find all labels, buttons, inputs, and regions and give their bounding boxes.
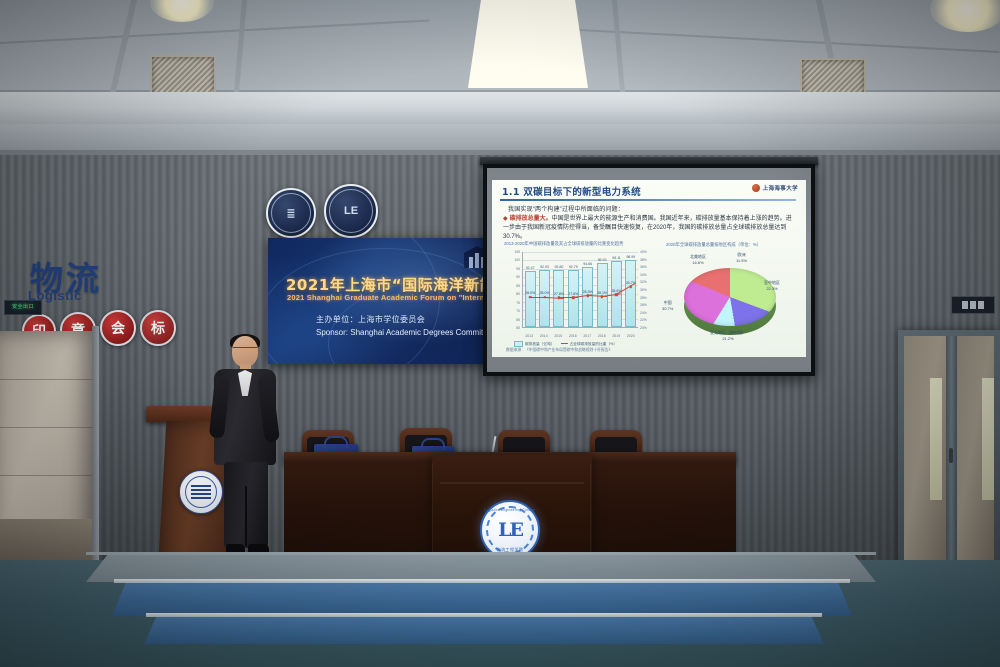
y-tick-label: 90 [504, 275, 520, 279]
pie-slice-label: 中国30.7% [662, 300, 673, 311]
y2-tick-label: 30% [640, 288, 654, 292]
y2-tick-label: 22% [640, 318, 654, 322]
stage-deck [86, 552, 876, 582]
alcove-seam [0, 475, 96, 476]
podium-seal-wave-icon [191, 485, 211, 499]
pie-label-name: 亚太地区（除中国） [710, 330, 746, 336]
y-tick-label: 60 [504, 326, 520, 330]
y2-tick-label: 24% [640, 311, 654, 315]
pie-chart-graphic [684, 268, 776, 330]
exit-sign-label: 安全出口 [12, 305, 34, 310]
y-tick-label: 105 [504, 250, 520, 254]
bag-handle [421, 438, 445, 450]
slide-university-logo: 上海海事大学 [752, 184, 798, 192]
banner-title-chinese: 2021年上海市“国际海洋新能 [286, 274, 500, 295]
x-tick-label: 2015 [554, 334, 562, 338]
y-tick-label: 85 [504, 284, 520, 288]
legend-swatch-bar-icon [514, 341, 523, 347]
wall-seal-icon: 标 [140, 310, 176, 346]
banner-emblem-bar [469, 257, 473, 268]
wall-top-trim [0, 150, 1000, 155]
y2-tick-label: 36% [640, 265, 654, 269]
ceiling [0, 0, 1000, 152]
stage-platform [86, 552, 876, 646]
plaque-glyph [970, 301, 976, 309]
x-tick-label: 2017 [583, 334, 591, 338]
y2-tick-label: 38% [640, 258, 654, 262]
banner-organizer-english: Sponsor: Shanghai Academic Degrees Commi… [316, 328, 500, 337]
pie-slice-label: 亚太地区（除中国）21.2% [710, 330, 746, 341]
table-groove [440, 482, 584, 484]
pie-label-value: 11.5% [736, 258, 747, 264]
y2-tick-label: 20% [640, 326, 654, 330]
pie-label-name: 北美地区 [690, 254, 706, 260]
pie-label-value: 30.7% [662, 306, 673, 312]
y2-tick-label: 32% [640, 280, 654, 284]
x-tick-label: 2020 [627, 334, 635, 338]
y-tick-label: 95 [504, 267, 520, 271]
alcove-seam [0, 427, 96, 428]
line-value-label: 28.0% [540, 291, 550, 295]
stage-step-nosing [114, 579, 850, 583]
plaque-glyph [978, 301, 984, 309]
door-glass-panel [982, 378, 994, 500]
stage-step-nosing [146, 613, 822, 617]
ceiling-beam-lower [0, 124, 1000, 152]
stage-front-edge [86, 552, 876, 555]
slide-source-note: 数据来源：《中国碳中和产业布局暨碳中和战略规划十杆报告》 [506, 348, 612, 353]
presenter-leg-split [245, 486, 247, 546]
legend-label: 碳排放量（亿吨） [525, 342, 555, 346]
presenter-person [212, 336, 280, 561]
alcove-seam [0, 379, 96, 380]
pie-label-name: 亚中地区 [764, 280, 780, 286]
y-tick-label: 75 [504, 301, 520, 305]
banner-title-english: 2021 Shanghai Graduate Academic Forum on… [287, 293, 500, 302]
y2-tick-label: 26% [640, 303, 654, 307]
alcove-floor [0, 519, 96, 563]
x-tick-label: 2018 [598, 334, 606, 338]
bag-handle [324, 436, 348, 448]
ceiling-panel-seam [560, 28, 999, 53]
x-tick-label: 2019 [612, 334, 620, 338]
emblem-maritime-university: ≣ [266, 188, 316, 238]
legend-entry-line: 占全球碳排放量的比重（%） [561, 342, 618, 347]
ceiling-beam [0, 92, 1000, 126]
slide-title-rule [500, 199, 796, 201]
x-tick-label: 2016 [569, 334, 577, 338]
door-handle[interactable] [949, 448, 953, 463]
logo-mark-icon [752, 184, 760, 192]
y2-tick-label: 40% [640, 250, 654, 254]
ceiling-rib [109, 0, 137, 96]
downlight-icon [930, 0, 1000, 32]
table-college-seal: Logistics Engineering College LE 物流工程学院 [480, 500, 540, 560]
slide-logo-text: 上海海事大学 [763, 184, 798, 192]
slide-lead-text: 我国实现“两个构建”过程中所面临的问题： [508, 204, 624, 213]
ceiling-rib [612, 0, 625, 92]
seal-english-text: Logistics Engineering College [485, 508, 536, 512]
slide-title: 1.1 双碳目标下的新型电力系统 [502, 184, 641, 198]
pie-label-name: 欧洲 [736, 252, 747, 258]
legend-entry-bars: 碳排放量（亿吨） [514, 341, 555, 347]
y2-tick-label: 34% [640, 273, 654, 277]
event-banner: 2021年上海市“国际海洋新能 2021 Shanghai Graduate A… [268, 238, 500, 364]
line-value-label: 28.0% [525, 291, 535, 295]
banner-organizer-chinese: 主办单位：上海市学位委员会 [316, 314, 500, 325]
pie-chart-title: 2020年全球碳排放量总量按地区构成（单位：%） [666, 242, 761, 248]
emblem-ring [329, 189, 373, 233]
ceiling-panel-seam [0, 19, 429, 43]
plaque-glyph [962, 301, 968, 309]
emblem-ring [271, 193, 311, 233]
stage-riser-lower [144, 614, 824, 644]
door-glass-panel [930, 378, 942, 500]
presentation-slide: 1.1 双碳目标下的新型电力系统 上海海事大学 我国实现“两个构建”过程中所面临… [492, 180, 806, 357]
pie-chart: 2020年全球碳排放量总量按地区构成（单位：%） 中国30.7%北美地区16.6… [660, 242, 800, 348]
pie-slice-label: 欧洲11.5% [736, 252, 747, 263]
y-tick-label: 100 [504, 258, 520, 262]
bar-chart-plot-area: 92.4792.9392.8092.7994.6696.9398.1198.99… [522, 252, 638, 328]
x-tick-label: 2013 [525, 334, 533, 338]
pie-slice-label: 亚中地区22.3% [764, 280, 780, 291]
legend-swatch-line-icon [561, 343, 568, 344]
exit-sign-left: 安全出口 [4, 300, 42, 315]
pie-label-name: 中国 [662, 300, 673, 306]
ceiling-rib [234, 0, 247, 92]
line-value-label: 28.1% [597, 291, 607, 295]
line-segment [559, 297, 578, 298]
bullet-marker-icon: ◆ [503, 216, 508, 222]
pie-slice-label: 北美地区16.6% [690, 254, 706, 265]
bar-chart-legend: 碳排放量（亿吨） 占全球碳排放量的比重（%） [514, 341, 617, 347]
grid-line [523, 327, 638, 328]
exit-sign-right [951, 296, 995, 314]
pie-label-value: 22.3% [764, 286, 780, 292]
bar-chart: 2013-2020年中国碳排放量及其占全球碳排放量的比重变化趋势 92.4792… [504, 248, 654, 344]
y-tick-label: 80 [504, 292, 520, 296]
line-value-label: 27.8% [554, 292, 564, 296]
bar-chart-line-series: 28.0%28.0%27.8%27.8%28.3%28.1%28.6%30.7% [523, 252, 638, 327]
bar-chart-title: 2013-2020年中国碳排放量及其占全球碳排放量的比重变化趋势 [504, 241, 623, 247]
pie-label-value: 16.6% [690, 260, 706, 266]
ceiling-light-panel [468, 0, 588, 88]
stage-riser-upper [112, 580, 852, 616]
banner-emblem-bar [475, 253, 479, 268]
left-doorway-alcove [0, 331, 96, 563]
scene-root: 物流 Logistic 印 章 会 标 安全出口 ≣ LE [0, 0, 1000, 667]
bullet-highlight: 碳排放总量大。 [510, 216, 552, 222]
y-tick-label: 70 [504, 309, 520, 313]
emblem-logistics-college: LE [324, 184, 378, 238]
wall-seal-icon: 会 [100, 310, 136, 346]
x-tick-label: 2014 [540, 334, 548, 338]
pie-slices [684, 268, 776, 326]
legend-label: 占全球碳排放量的比重（%） [570, 342, 618, 346]
y2-tick-label: 28% [640, 296, 654, 300]
y-tick-label: 65 [504, 318, 520, 322]
presenter-glasses-icon [233, 347, 257, 353]
slide-bullet-paragraph: ◆碳排放总量大。中国是世界上最大的能源生产和消费国。我国近年来，碳排放量基本保持… [503, 215, 797, 242]
exit-door[interactable] [898, 330, 1000, 568]
pie-label-value: 21.2% [710, 336, 746, 342]
alcove-edge [92, 326, 99, 566]
downlight-icon [150, 0, 214, 22]
